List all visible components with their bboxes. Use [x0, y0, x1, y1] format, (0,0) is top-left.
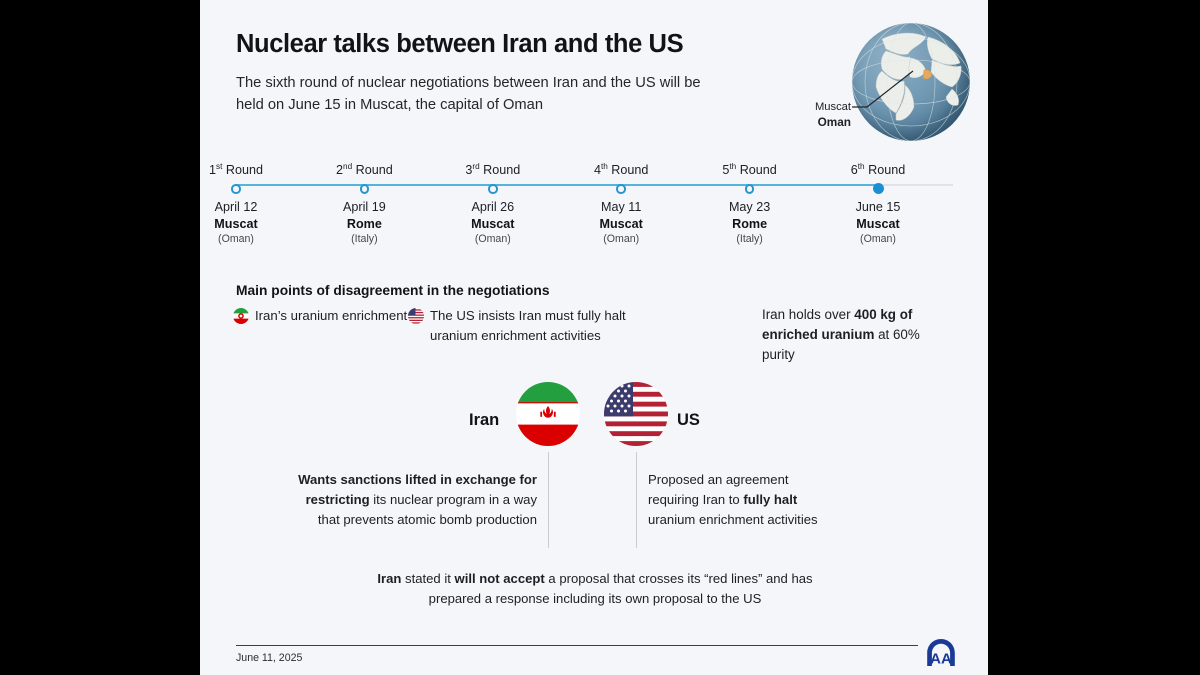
- iran-flag-icon: [233, 308, 249, 324]
- timeline-dot[interactable]: [360, 184, 370, 194]
- timeline-round-label: 6th Round: [818, 160, 938, 177]
- enriched-uranium-stat: Iran holds over 400 kg of enriched urani…: [762, 305, 952, 365]
- us-connector-line: [636, 452, 637, 548]
- timeline-round-country: (Oman): [818, 233, 938, 245]
- timeline-round-date: April 19: [304, 200, 424, 214]
- closing-bold-1: Iran: [377, 571, 401, 586]
- negotiation-rounds-timeline: 1st RoundApril 12Muscat(Oman)2nd RoundAp…: [200, 160, 988, 260]
- timeline-round-city: Muscat: [818, 217, 938, 231]
- iran-label: Iran: [469, 411, 499, 430]
- timeline-dot-active[interactable]: [873, 183, 884, 194]
- timeline-round-label: 2nd Round: [304, 160, 424, 177]
- timeline-round-country: (Italy): [690, 233, 810, 245]
- timeline-round-city: Muscat: [433, 217, 553, 231]
- callout-country: Oman: [795, 115, 851, 130]
- footer-divider: [236, 645, 918, 646]
- timeline-round-country: (Oman): [176, 233, 296, 245]
- timeline-round-date: June 15: [818, 200, 938, 214]
- infographic-panel: Nuclear talks between Iran and the US Th…: [200, 0, 988, 675]
- page-title: Nuclear talks between Iran and the US: [236, 30, 683, 59]
- callout-city: Muscat: [815, 101, 851, 113]
- timeline-round-date: April 12: [176, 200, 296, 214]
- us-flag-icon: [408, 308, 424, 324]
- disagreement-point-us: The US insists Iran must fully halt uran…: [408, 306, 673, 345]
- timeline-round-label: 1st Round: [176, 160, 296, 177]
- timeline-round-city: Rome: [690, 217, 810, 231]
- timeline-round-country: (Oman): [433, 233, 553, 245]
- us-label: US: [677, 411, 700, 430]
- timeline-round-label: 3rd Round: [433, 160, 553, 177]
- timeline-round-3[interactable]: 3rd RoundApril 26Muscat(Oman): [433, 160, 553, 245]
- timeline-dot[interactable]: [231, 184, 241, 194]
- disagreement-point-iran-text: Iran’s uranium enrichment: [255, 306, 407, 326]
- svg-text:AA: AA: [930, 651, 952, 668]
- disagreement-point-iran: Iran’s uranium enrichment: [233, 306, 408, 326]
- us-flag-badge: [604, 382, 668, 446]
- closing-text-1: stated it: [401, 571, 454, 586]
- timeline-round-4[interactable]: 4th RoundMay 11Muscat(Oman): [561, 160, 681, 245]
- timeline-round-city: Muscat: [561, 217, 681, 231]
- timeline-dot[interactable]: [745, 184, 755, 194]
- timeline-round-city: Muscat: [176, 217, 296, 231]
- us-position-bold: fully halt: [743, 492, 797, 507]
- globe-callout: Muscat Oman: [795, 100, 851, 130]
- closing-statement: Iran stated it will not accept a proposa…: [360, 569, 830, 609]
- timeline-round-label: 4th Round: [561, 160, 681, 177]
- disagreement-point-us-text: The US insists Iran must fully halt uran…: [430, 306, 673, 345]
- timeline-round-1[interactable]: 1st RoundApril 12Muscat(Oman): [176, 160, 296, 245]
- section-heading-disagreement: Main points of disagreement in the negot…: [236, 283, 550, 298]
- screenshot-stage: Nuclear talks between Iran and the US Th…: [0, 0, 1200, 675]
- stat-lead: Iran holds over: [762, 307, 854, 322]
- closing-bold-2: will not accept: [455, 571, 545, 586]
- iran-connector-line: [548, 452, 549, 548]
- us-position-text: Proposed an agreement requiring Iran to …: [648, 470, 838, 529]
- us-position-tail: uranium enrichment activities: [648, 512, 818, 527]
- timeline-dot[interactable]: [616, 184, 626, 194]
- timeline-round-date: May 23: [690, 200, 810, 214]
- timeline-round-2[interactable]: 2nd RoundApril 19Rome(Italy): [304, 160, 424, 245]
- timeline-round-date: May 11: [561, 200, 681, 214]
- iran-position-text: Wants sanctions lifted in exchange for r…: [285, 470, 537, 529]
- page-subtitle: The sixth round of nuclear negotiations …: [236, 72, 716, 116]
- timeline-dot[interactable]: [488, 184, 498, 194]
- aa-anadolu-agency-logo: AA: [922, 636, 960, 670]
- timeline-round-date: April 26: [433, 200, 553, 214]
- publication-date: June 11, 2025: [236, 652, 302, 664]
- timeline-round-6[interactable]: 6th RoundJune 15Muscat(Oman): [818, 160, 938, 245]
- globe-illustration: Muscat Oman: [795, 22, 975, 142]
- iran-flag-badge: [516, 382, 580, 446]
- timeline-round-5[interactable]: 5th RoundMay 23Rome(Italy): [690, 160, 810, 245]
- timeline-round-label: 5th Round: [690, 160, 810, 177]
- timeline-round-country: (Italy): [304, 233, 424, 245]
- timeline-round-country: (Oman): [561, 233, 681, 245]
- timeline-round-city: Rome: [304, 217, 424, 231]
